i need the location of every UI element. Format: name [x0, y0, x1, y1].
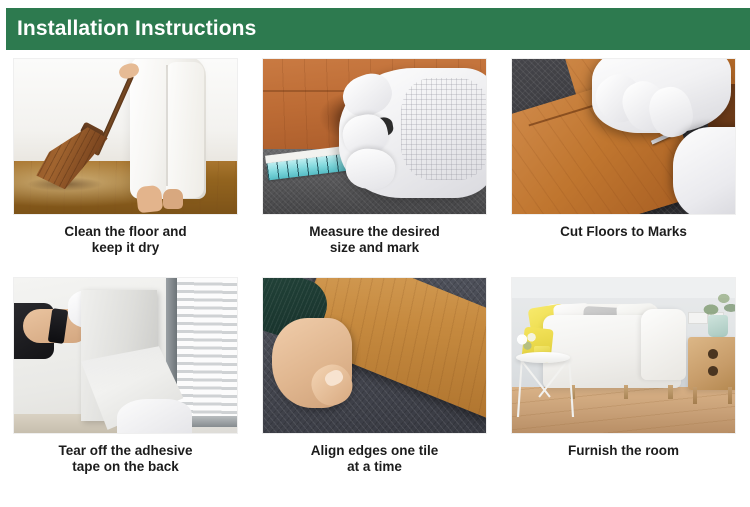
nightstand-knob-top — [708, 349, 718, 358]
step-card-4: Tear off the adhesive tape on the back — [13, 277, 238, 496]
caption-line-2: tape on the back — [72, 459, 179, 474]
caption-line-1: Align edges one tile — [311, 443, 439, 458]
step-caption-2: Measure the desired size and mark — [262, 215, 487, 267]
steps-row-top: Clean the floor and keep it dry — [0, 58, 750, 277]
steps-grid: Clean the floor and keep it dry — [0, 58, 750, 507]
photo-measure-mark — [262, 58, 487, 215]
white-glove-lower — [117, 399, 193, 434]
sofa-leg-right — [668, 385, 673, 399]
sofa-armrest — [641, 309, 686, 380]
nightstand-knob-bottom — [708, 366, 718, 375]
sofa-leg-middle — [624, 385, 629, 399]
page-title: Installation Instructions — [6, 17, 256, 41]
step-card-3: Cut Floors to Marks — [511, 58, 736, 277]
step-caption-5: Align edges one tile at a time — [262, 434, 487, 486]
caption-line-2: size and mark — [330, 240, 419, 255]
trouser-fold — [166, 65, 168, 186]
bare-foot-right — [163, 189, 183, 209]
caption-line-2: keep it dry — [92, 240, 160, 255]
nightstand-leg-left — [693, 387, 697, 404]
caption-line-2: at a time — [347, 459, 402, 474]
caption-line-1: Tear off the adhesive — [58, 443, 192, 458]
photo-furnish-room — [511, 277, 736, 434]
header-bar: Installation Instructions — [6, 8, 750, 50]
wooden-nightstand — [688, 337, 736, 390]
photo-cut-floors — [511, 58, 736, 215]
white-glove-lower-hand — [673, 127, 736, 215]
plant-decor — [699, 290, 736, 318]
caption-line-1: Furnish the room — [568, 443, 679, 458]
photo-tear-adhesive — [13, 277, 238, 434]
photo-clean-floor — [13, 58, 238, 215]
installation-instructions-page: Installation Instructions — [0, 0, 750, 507]
vase — [708, 315, 728, 337]
caption-line-1: Cut Floors to Marks — [560, 224, 687, 239]
step-caption-4: Tear off the adhesive tape on the back — [13, 434, 238, 486]
step-card-5: Align edges one tile at a time — [262, 277, 487, 496]
step-caption-1: Clean the floor and keep it dry — [13, 215, 238, 267]
glove-texture — [401, 78, 487, 180]
step-card-6: Furnish the room — [511, 277, 736, 496]
steps-row-bottom: Tear off the adhesive tape on the back — [0, 277, 750, 496]
bare-foot-left — [135, 185, 162, 214]
step-caption-6: Furnish the room — [511, 434, 736, 486]
nightstand-leg-right — [728, 387, 732, 404]
caption-line-1: Clean the floor and — [64, 224, 186, 239]
step-caption-3: Cut Floors to Marks — [511, 215, 736, 267]
caption-line-1: Measure the desired — [309, 224, 440, 239]
white-trousers-second-leg — [166, 62, 204, 198]
step-card-1: Clean the floor and keep it dry — [13, 58, 238, 277]
photo-align-edges — [262, 277, 487, 434]
step-card-2: Measure the desired size and mark — [262, 58, 487, 277]
